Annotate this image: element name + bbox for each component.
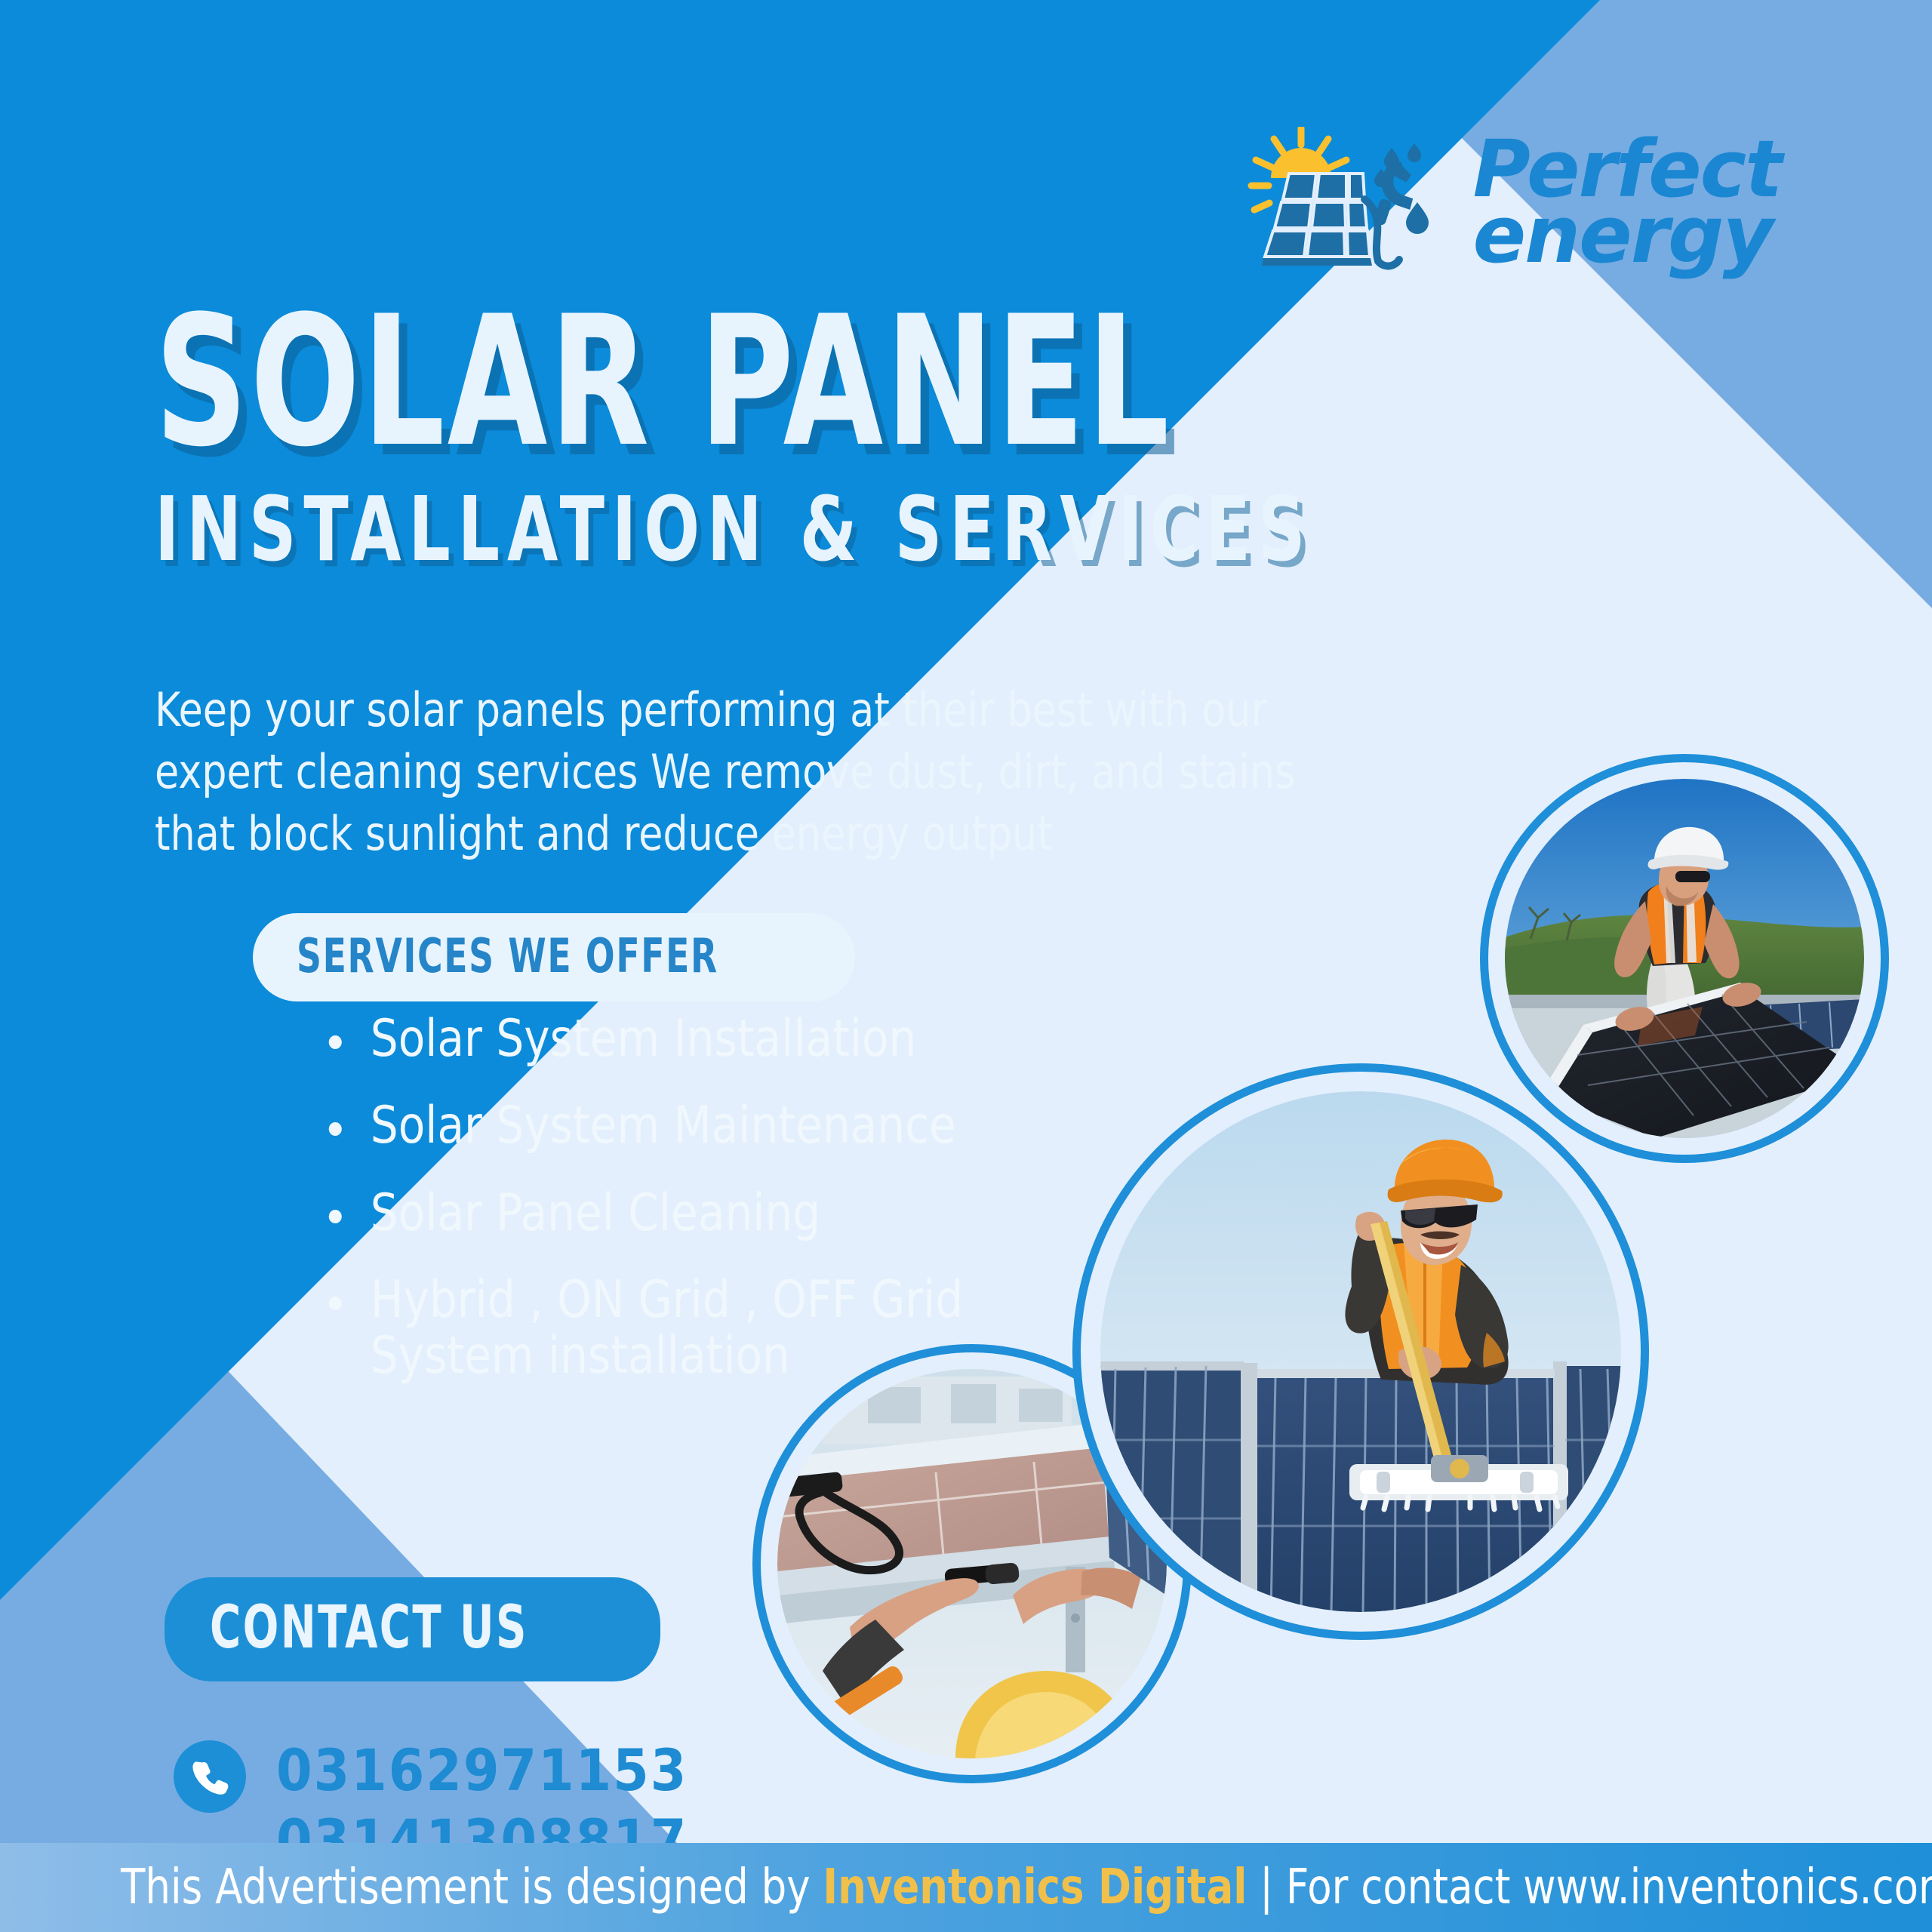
solar-panel-sun-wrench-water-logo-icon — [1244, 127, 1447, 278]
contact-badge: CONTACT US — [165, 1577, 660, 1681]
footer-bar: This Advertisement is designed by Invent… — [0, 1843, 1932, 1932]
services-badge: SERVICES WE OFFER — [253, 913, 855, 1001]
services-list: Solar System Installation Solar System M… — [325, 1011, 1140, 1415]
photo-installer-panel — [1505, 779, 1864, 1138]
footer-separator: | — [1247, 1860, 1285, 1915]
brand-logo: Perfect energy — [1244, 127, 1781, 278]
footer-prefix: This Advertisement is designed by — [121, 1860, 823, 1915]
list-item: Solar System Maintenance — [325, 1098, 1099, 1153]
services-badge-label: SERVICES WE OFFER — [297, 928, 718, 983]
list-item: Solar System Installation — [325, 1011, 1099, 1066]
page-subtitle: INSTALLATION & SERVICES — [155, 477, 1312, 581]
footer-brand-name: Inventonics Digital — [823, 1860, 1247, 1915]
contact-badge-label: CONTACT US — [210, 1594, 528, 1662]
brand-name-line2: energy — [1473, 202, 1781, 268]
list-item: Solar Panel Cleaning — [325, 1186, 1099, 1241]
footer-credit: This Advertisement is designed by Invent… — [121, 1860, 1932, 1915]
footer-suffix: For contact www.inventonics.com — [1286, 1860, 1932, 1915]
poster-canvas: Perfect energy SOLAR PANEL INSTALLATION … — [0, 0, 1932, 1932]
intro-paragraph: Keep your solar panels performing at the… — [155, 679, 1318, 864]
headline-block: SOLAR PANEL INSTALLATION & SERVICES — [155, 302, 1567, 581]
brand-wordmark: Perfect energy — [1473, 137, 1781, 269]
phone-number-primary[interactable]: 03162971153 — [276, 1736, 688, 1806]
photo-cleaning-panels — [1100, 1091, 1621, 1612]
page-title: SOLAR PANEL — [155, 302, 1284, 463]
phone-handset-icon — [174, 1740, 246, 1813]
